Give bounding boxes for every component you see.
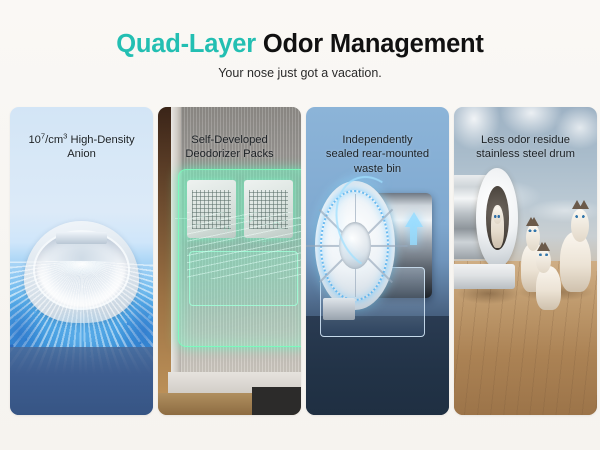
cat-standing-middle xyxy=(536,249,562,311)
bin-latch-shape xyxy=(323,298,354,320)
foreground-dark-bar xyxy=(252,387,301,415)
caption-line1: Less odor residue xyxy=(481,134,570,146)
caption-number-prefix: 10 xyxy=(28,134,40,146)
odor-molecule-bubbles xyxy=(212,202,286,270)
cat-face-shape xyxy=(574,213,586,222)
caption-line2: Deodorizer Packs xyxy=(185,148,273,160)
appliance-pedestal-shape xyxy=(454,264,515,289)
caption-line2: sealed rear-mounted xyxy=(326,148,429,160)
cat-body-shape xyxy=(536,266,562,310)
panel-caption-anion: 107/cm3 High-Density Anion xyxy=(10,133,153,162)
caption-line1: Independently xyxy=(342,134,412,146)
caption-line2: stainless steel drum xyxy=(476,148,575,160)
cat-face-shape xyxy=(538,252,548,258)
feature-panel-deodorizer-packs[interactable]: Self-Developed Deodorizer Packs xyxy=(158,107,301,415)
cat-head-shape xyxy=(536,249,551,274)
cat-head-shape xyxy=(571,209,589,242)
caption-line1-suffix: High-Density xyxy=(67,134,134,146)
caption-line3: waste bin xyxy=(354,163,401,175)
feature-panel-anion[interactable]: 107/cm3 High-Density Anion xyxy=(10,107,153,415)
cat-inside-shape xyxy=(491,205,504,247)
appliance-entry-opening xyxy=(486,186,509,250)
title-accent-text: Quad-Layer xyxy=(116,30,256,58)
promo-banner: Quad-Layer Odor Management Your nose jus… xyxy=(0,0,600,450)
appliance-hood-shape xyxy=(476,168,518,268)
banner-header: Quad-Layer Odor Management Your nose jus… xyxy=(0,0,600,80)
cat-face-shape xyxy=(528,228,538,235)
feature-panel-waste-bin[interactable]: Independently sealed rear-mounted waste … xyxy=(306,107,449,415)
airflow-arrow-icon xyxy=(405,212,423,227)
title-rest-text: Odor Management xyxy=(256,30,484,58)
page-title: Quad-Layer Odor Management xyxy=(0,0,600,58)
caption-line2: Anion xyxy=(67,148,96,160)
feature-panel-row: 107/cm3 High-Density Anion xyxy=(10,107,600,415)
caption-line1: Self-Developed xyxy=(191,134,268,146)
page-subtitle: Your nose just got a vacation. xyxy=(0,58,600,80)
panel-caption-stainless-steel-drum: Less odor residue stainless steel drum xyxy=(454,133,597,162)
panel-caption-waste-bin: Independently sealed rear-mounted waste … xyxy=(306,133,449,176)
panel-caption-deodorizer-packs: Self-Developed Deodorizer Packs xyxy=(158,133,301,162)
panel-floor-shape xyxy=(10,347,153,415)
cat-body-shape xyxy=(560,232,591,292)
lid-hinge-shape xyxy=(56,232,107,244)
caption-unit-cm: /cm xyxy=(45,134,63,146)
feature-panel-stainless-steel-drum[interactable]: Less odor residue stainless steel drum xyxy=(454,107,597,415)
litter-box-appliance-shape xyxy=(454,175,526,289)
cat-standing-right xyxy=(560,209,591,292)
